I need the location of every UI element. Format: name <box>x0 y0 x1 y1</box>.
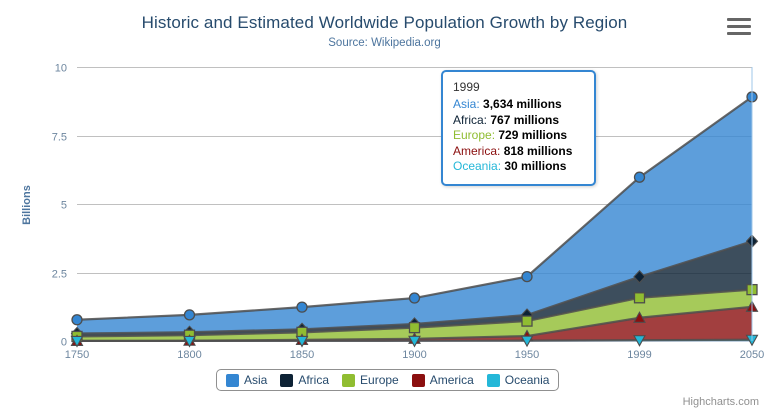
series-areas <box>77 97 752 341</box>
chart-legend[interactable]: AsiaAfricaEuropeAmericaOceania <box>216 369 559 391</box>
tooltip-header: 1999 <box>453 80 584 94</box>
tooltip-series-value: 30 millions <box>504 159 566 173</box>
y-axis-title: Billions <box>21 185 33 225</box>
tooltip-series-name: Asia: <box>453 97 483 111</box>
legend-item-america[interactable]: America <box>412 373 474 387</box>
legend-label: Europe <box>360 373 399 387</box>
y-tick-label: 5 <box>61 200 67 212</box>
highcharts-container: Historic and Estimated Worldwide Populat… <box>0 0 769 416</box>
legend-item-oceania[interactable]: Oceania <box>487 373 550 387</box>
tooltip-series-name: America: <box>453 144 504 158</box>
x-tick-label: 1800 <box>177 349 201 361</box>
x-axis-tick-labels: 1750180018501900195019992050 <box>65 349 764 361</box>
marker-asia[interactable] <box>72 315 82 325</box>
tooltip-row: Europe: 729 millions <box>453 128 584 144</box>
tooltip-row: America: 818 millions <box>453 144 584 160</box>
tooltip-rows: Asia: 3,634 millionsAfrica: 767 millions… <box>453 97 584 175</box>
marker-asia[interactable] <box>410 293 420 303</box>
legend-swatch-icon <box>412 374 425 387</box>
marker-asia[interactable] <box>522 272 532 282</box>
credits-label[interactable]: Highcharts.com <box>683 396 759 408</box>
y-axis-tick-labels: 02.557.510 <box>52 63 67 349</box>
legend-swatch-icon <box>226 374 239 387</box>
legend-swatch-icon <box>280 374 293 387</box>
legend-label: America <box>430 373 474 387</box>
legend-item-asia[interactable]: Asia <box>226 373 267 387</box>
legend-item-africa[interactable]: Africa <box>280 373 329 387</box>
marker-asia[interactable] <box>185 310 195 320</box>
x-tick-label: 1900 <box>402 349 426 361</box>
marker-europe[interactable] <box>635 293 645 303</box>
marker-europe[interactable] <box>522 316 532 326</box>
tooltip-row: Asia: 3,634 millions <box>453 97 584 113</box>
legend-label: Asia <box>244 373 267 387</box>
tooltip-series-name: Africa: <box>453 113 490 127</box>
tooltip-row: Oceania: 30 millions <box>453 159 584 175</box>
y-tick-label: 10 <box>55 63 67 75</box>
tooltip-series-value: 3,634 millions <box>483 97 562 111</box>
legend-swatch-icon <box>487 374 500 387</box>
tooltip-series-value: 818 millions <box>504 144 573 158</box>
marker-asia[interactable] <box>635 172 645 182</box>
tooltip-series-name: Europe: <box>453 128 498 142</box>
legend-label: Oceania <box>505 373 550 387</box>
tooltip-series-value: 767 millions <box>490 113 559 127</box>
x-tick-label: 1850 <box>290 349 314 361</box>
x-tick-label: 1750 <box>65 349 89 361</box>
y-tick-label: 0 <box>61 337 67 349</box>
legend-label: Africa <box>298 373 329 387</box>
x-tick-label: 1950 <box>515 349 539 361</box>
legend-swatch-icon <box>342 374 355 387</box>
y-tick-label: 2.5 <box>52 269 67 281</box>
tooltip-series-name: Oceania: <box>453 159 504 173</box>
tooltip-row: Africa: 767 millions <box>453 113 584 129</box>
marker-asia[interactable] <box>297 302 307 312</box>
tooltip-series-value: 729 millions <box>498 128 567 142</box>
marker-europe[interactable] <box>410 323 420 333</box>
x-tick-label: 1999 <box>627 349 651 361</box>
tooltip: 1999 Asia: 3,634 millionsAfrica: 767 mil… <box>441 70 596 186</box>
x-tick-label: 2050 <box>740 349 764 361</box>
legend-item-europe[interactable]: Europe <box>342 373 399 387</box>
plot-area: 02.557.510 1750180018501900195019992050 … <box>0 0 769 416</box>
y-tick-label: 7.5 <box>52 132 67 144</box>
